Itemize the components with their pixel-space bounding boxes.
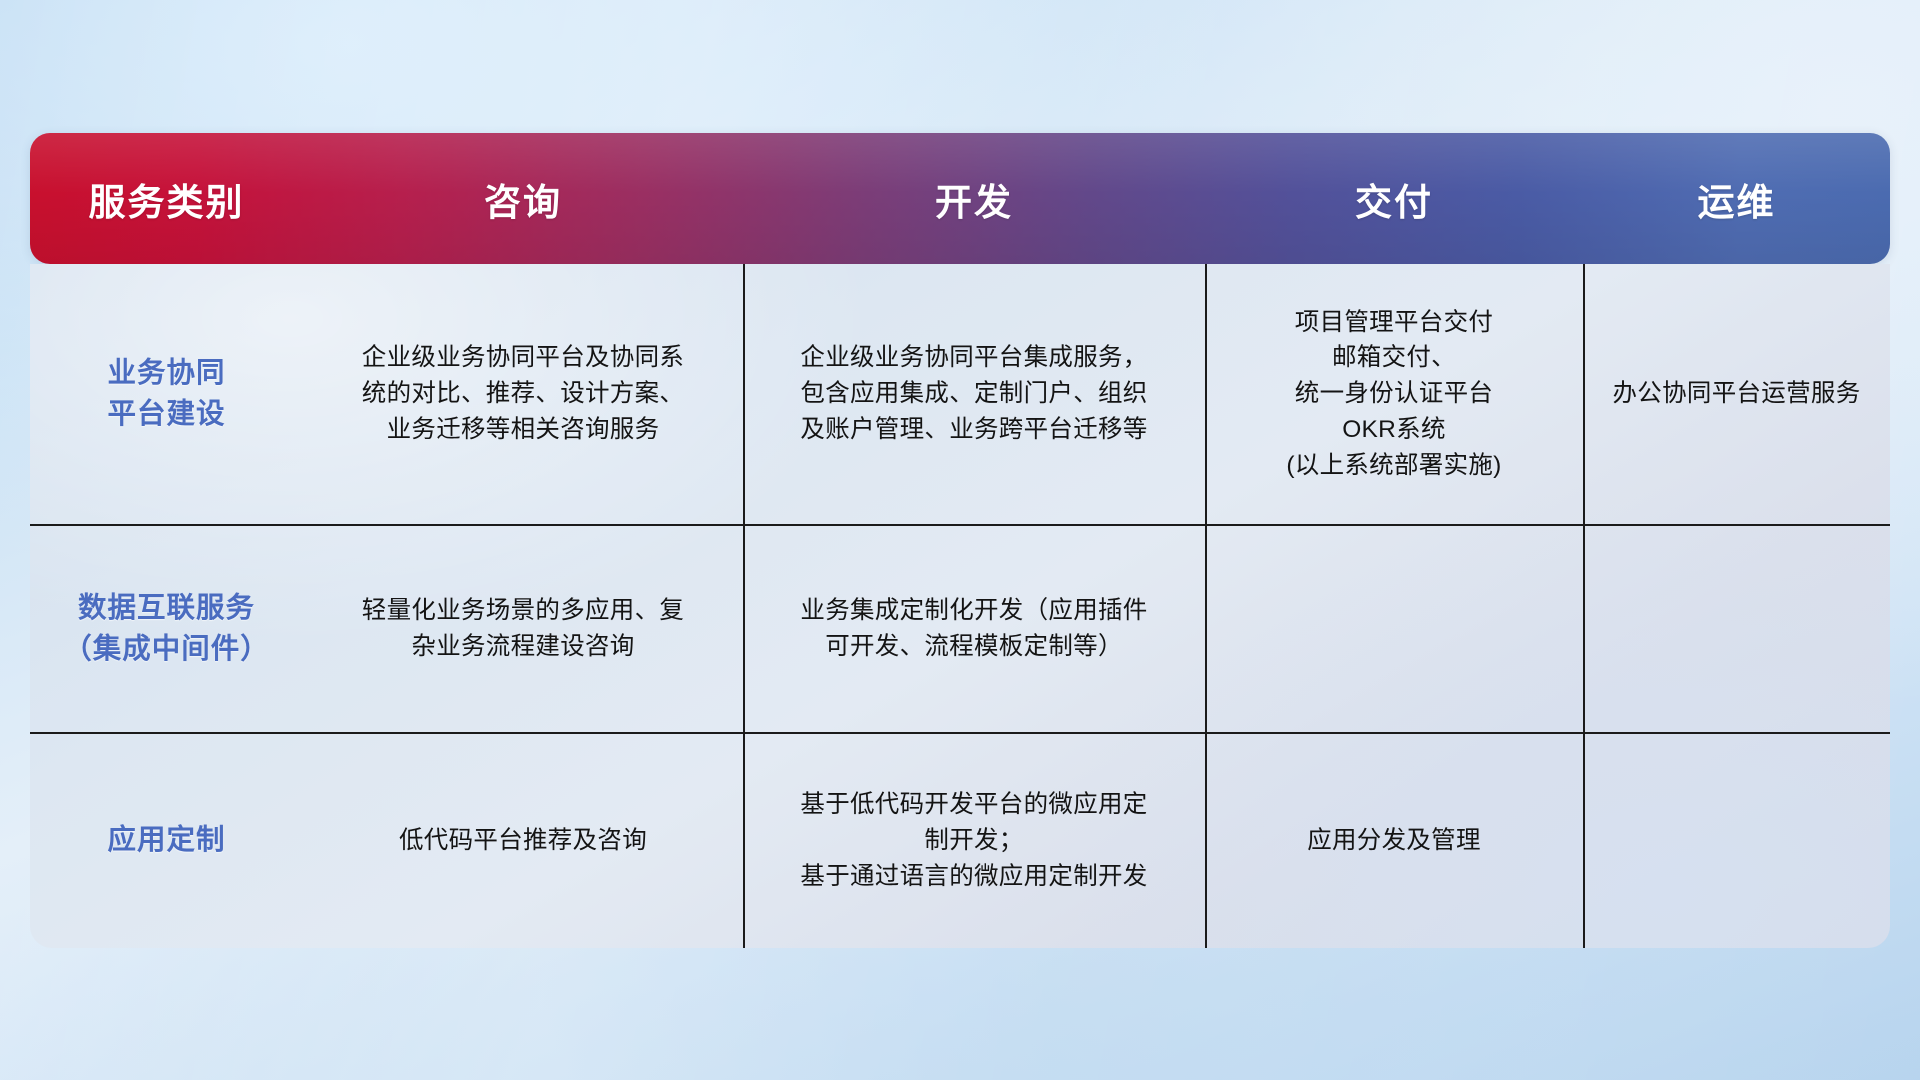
table-row: 应用定制 低代码平台推荐及咨询 基于低代码开发平台的微应用定 制开发； 基于通过… <box>30 732 1890 948</box>
cell-consulting: 低代码平台推荐及咨询 <box>303 734 743 948</box>
table-header-row: 服务类别 咨询 开发 交付 运维 <box>30 133 1890 264</box>
cell-text: 业务集成定制化开发（应用插件 可开发、流程模板定制等） <box>800 593 1147 665</box>
column-header-label: 服务类别 <box>89 172 245 226</box>
cell-consulting: 轻量化业务场景的多应用、复 杂业务流程建设咨询 <box>303 526 743 732</box>
cell-text: 轻量化业务场景的多应用、复 杂业务流程建设咨询 <box>362 593 684 665</box>
cell-text: 基于低代码开发平台的微应用定 制开发； 基于通过语言的微应用定制开发 <box>800 787 1147 894</box>
column-header-label: 运维 <box>1698 172 1776 226</box>
cell-text: 项目管理平台交付 邮箱交付、 统一身份认证平台 OKR系统 (以上系统部署实施) <box>1286 305 1501 484</box>
table-row: 数据互联服务 （集成中间件） 轻量化业务场景的多应用、复 杂业务流程建设咨询 业… <box>30 524 1890 732</box>
cell-operations <box>1583 526 1890 732</box>
table-row: 业务协同 平台建设 企业级业务协同平台及协同系 统的对比、推荐、设计方案、 业务… <box>30 264 1890 524</box>
column-header-service-category: 服务类别 <box>30 133 303 264</box>
column-header-label: 咨询 <box>484 172 562 226</box>
cell-text: 企业级业务协同平台及协同系 统的对比、推荐、设计方案、 业务迁移等相关咨询服务 <box>362 340 684 447</box>
column-header-label: 开发 <box>935 172 1013 226</box>
cell-text: 企业级业务协同平台集成服务， 包含应用集成、定制门户、组织 及账户管理、业务跨平… <box>800 340 1147 447</box>
cell-operations <box>1583 734 1890 948</box>
row-category-cell: 应用定制 <box>30 734 303 948</box>
cell-development: 企业级业务协同平台集成服务， 包含应用集成、定制门户、组织 及账户管理、业务跨平… <box>743 264 1205 524</box>
cell-text: 办公协同平台运营服务 <box>1613 376 1861 412</box>
cell-operations: 办公协同平台运营服务 <box>1583 264 1890 524</box>
cell-delivery <box>1205 526 1583 732</box>
row-category-label: 业务协同 平台建设 <box>107 353 225 436</box>
service-matrix-table: 服务类别 咨询 开发 交付 运维 业务协同 平台建设 <box>30 133 1890 948</box>
page-root: 服务类别 咨询 开发 交付 运维 业务协同 平台建设 <box>0 0 1920 1080</box>
cell-text: 应用分发及管理 <box>1307 823 1481 859</box>
cell-delivery: 应用分发及管理 <box>1205 734 1583 948</box>
table-body: 业务协同 平台建设 企业级业务协同平台及协同系 统的对比、推荐、设计方案、 业务… <box>30 264 1890 948</box>
cell-delivery: 项目管理平台交付 邮箱交付、 统一身份认证平台 OKR系统 (以上系统部署实施) <box>1205 264 1583 524</box>
column-header-consulting: 咨询 <box>303 133 743 264</box>
column-header-development: 开发 <box>743 133 1205 264</box>
column-header-operations: 运维 <box>1583 133 1890 264</box>
row-category-cell: 业务协同 平台建设 <box>30 264 303 524</box>
row-category-label: 数据互联服务 （集成中间件） <box>63 588 270 671</box>
cell-text: 低代码平台推荐及咨询 <box>399 823 647 859</box>
cell-development: 业务集成定制化开发（应用插件 可开发、流程模板定制等） <box>743 526 1205 732</box>
cell-consulting: 企业级业务协同平台及协同系 统的对比、推荐、设计方案、 业务迁移等相关咨询服务 <box>303 264 743 524</box>
column-header-label: 交付 <box>1355 172 1433 226</box>
cell-development: 基于低代码开发平台的微应用定 制开发； 基于通过语言的微应用定制开发 <box>743 734 1205 948</box>
row-category-cell: 数据互联服务 （集成中间件） <box>30 526 303 732</box>
column-header-delivery: 交付 <box>1205 133 1583 264</box>
row-category-label: 应用定制 <box>107 820 225 861</box>
